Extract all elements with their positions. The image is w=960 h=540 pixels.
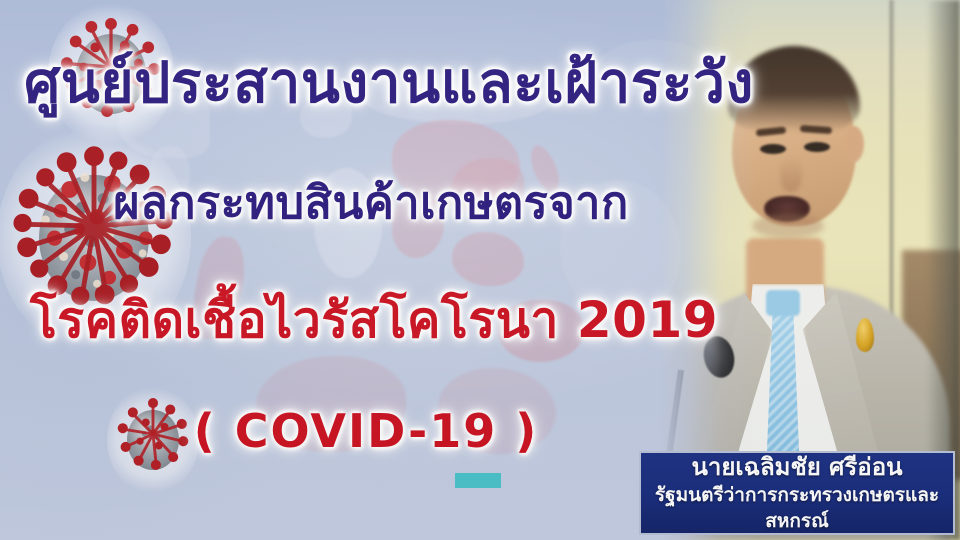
ear: [844, 126, 864, 162]
teal-highlight-bar: [455, 473, 501, 488]
eye-left: [760, 144, 786, 154]
wall-seam: [888, 0, 895, 340]
headline-covid-label: ( COVID-19 ): [0, 405, 732, 457]
lower-third-name-banner: นายเฉลิมชัย ศรีอ่อน รัฐมนตรีว่าการกระทรว…: [639, 451, 955, 535]
necktie-knot: [766, 290, 800, 316]
person-title: รัฐมนตรีว่าการกระทรวงเกษตรและสหกรณ์: [647, 482, 947, 534]
chin-shadow: [752, 214, 824, 238]
nose: [780, 156, 802, 192]
lapel-pin-icon: [856, 318, 874, 352]
eye-right: [804, 142, 830, 152]
headline-line-2: ผลกระทบสินค้าเกษตรจาก: [0, 178, 742, 228]
person-name: นายเฉลิมชัย ศรีอ่อน: [691, 452, 902, 482]
headline-line-3: โรคติดเชื้อไวรัสโคโรนา 2019: [0, 292, 748, 348]
headline-line-1: ศูนย์ประสานงานและเฝ้าระวัง: [0, 52, 778, 114]
covid-announcement-slide: ศูนย์ประสานงานและเฝ้าระวัง ผลกระทบสินค้า…: [0, 0, 960, 540]
